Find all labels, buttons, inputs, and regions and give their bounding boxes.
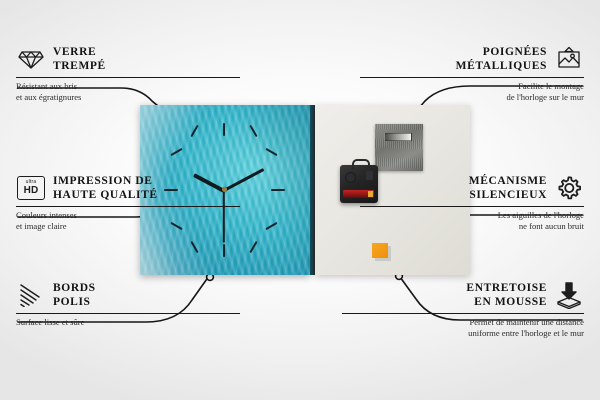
clock-tick [190, 125, 198, 137]
feature-bords-polis: BORDS POLIS Surface lisse et sûre [16, 280, 240, 328]
feature-title: MÉCANISME SILENCIEUX [469, 174, 547, 202]
ultra-hd-icon: ultra HD [16, 173, 46, 203]
feature-header: ENTRETOISE EN MOUSSE [342, 280, 584, 310]
polished-edges-icon [16, 280, 46, 310]
feature-title: VERRE TREMPÉ [53, 45, 106, 73]
feature-description: Surface lisse et sûre [16, 317, 240, 328]
feature-description: Les aiguilles de l'horloge ne font aucun… [360, 210, 584, 233]
feature-header: BORDS POLIS [16, 280, 240, 310]
feature-poignees-metalliques: POIGNÉES MÉTALLIQUES Facilite le montage… [360, 44, 584, 104]
feature-divider [16, 313, 240, 314]
feature-description: Facilite le montage de l'horloge sur le … [360, 81, 584, 104]
spacer-arrow-icon [554, 280, 584, 310]
feature-divider [360, 206, 584, 207]
gear-icon [554, 173, 584, 203]
clock-tick [249, 241, 257, 253]
product-infographic: VERRE TREMPÉ Résistant aux bris et aux é… [0, 0, 600, 400]
clock-tick [265, 148, 277, 156]
mechanism-set-dial [345, 172, 356, 183]
feature-impression-haute-qualite: ultra HD IMPRESSION DE HAUTE QUALITÉ Cou… [16, 173, 240, 233]
feature-entretoise-en-mousse: ENTRETOISE EN MOUSSE Permet de maintenir… [342, 280, 584, 340]
hanger-plate [375, 124, 423, 171]
clock-tick [170, 148, 182, 156]
foam-spacer [372, 243, 388, 258]
feature-header: ultra HD IMPRESSION DE HAUTE QUALITÉ [16, 173, 240, 203]
feature-header: VERRE TREMPÉ [16, 44, 240, 74]
feature-description: Résistant aux bris et aux égratignures [16, 81, 240, 104]
hanger-slot [384, 133, 412, 141]
clock-tick [190, 241, 198, 253]
feature-mecanisme-silencieux: MÉCANISME SILENCIEUX Les aiguilles de l'… [360, 173, 584, 233]
clock-tick [271, 189, 285, 191]
feature-title: BORDS POLIS [53, 281, 96, 309]
feature-divider [342, 313, 584, 314]
diamond-icon [16, 44, 46, 74]
feature-description: Couleurs intenses et image claire [16, 210, 240, 233]
feature-title: ENTRETOISE EN MOUSSE [466, 281, 547, 309]
feature-title: POIGNÉES MÉTALLIQUES [456, 45, 547, 73]
clock-tick [223, 123, 225, 136]
feature-title: IMPRESSION DE HAUTE QUALITÉ [53, 174, 158, 202]
feature-divider [16, 206, 240, 207]
picture-frame-icon [554, 44, 584, 74]
feature-header: POIGNÉES MÉTALLIQUES [360, 44, 584, 74]
feature-verre-trempe: VERRE TREMPÉ Résistant aux bris et aux é… [16, 44, 240, 104]
clock-tick [249, 125, 257, 137]
feature-divider [360, 77, 584, 78]
ultra-hd-icon-bottom-text: HD [24, 186, 39, 196]
feature-divider [16, 77, 240, 78]
mechanism-hanging-loop [352, 159, 370, 170]
clock-tick [223, 244, 225, 257]
feature-description: Permet de maintenir une distance uniform… [342, 317, 584, 340]
clock-tick [265, 222, 277, 230]
feature-header: MÉCANISME SILENCIEUX [360, 173, 584, 203]
